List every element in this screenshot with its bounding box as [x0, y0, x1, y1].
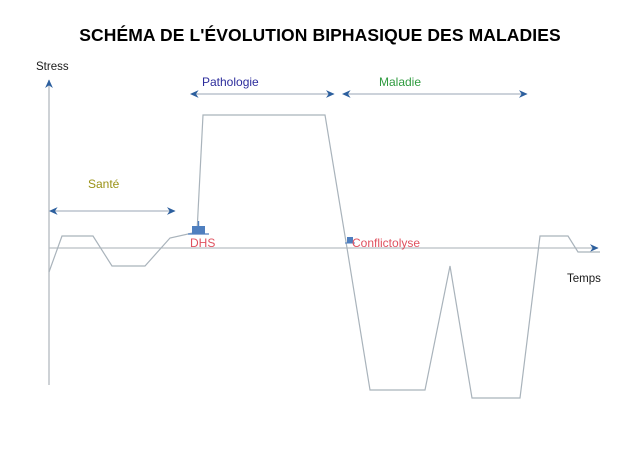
event-label-dhs: DHS — [190, 236, 215, 250]
phase-label-pathologie: Pathologie — [202, 75, 259, 89]
y-axis-label: Stress — [36, 61, 69, 73]
phase-label-sante: Santé — [88, 177, 119, 191]
page-title: SCHÉMA DE L'ÉVOLUTION BIPHASIQUE DES MAL… — [0, 25, 640, 46]
event-label-conflictolyse: Conflictolyse — [352, 236, 420, 250]
x-axis-label: Temps — [567, 273, 601, 285]
biphasic-evolution-diagram — [0, 0, 640, 452]
phase-label-maladie: Maladie — [379, 75, 421, 89]
diagram-canvas: SCHÉMA DE L'ÉVOLUTION BIPHASIQUE DES MAL… — [0, 0, 640, 452]
stress-curve — [49, 115, 600, 398]
dhs-marker — [188, 221, 209, 234]
